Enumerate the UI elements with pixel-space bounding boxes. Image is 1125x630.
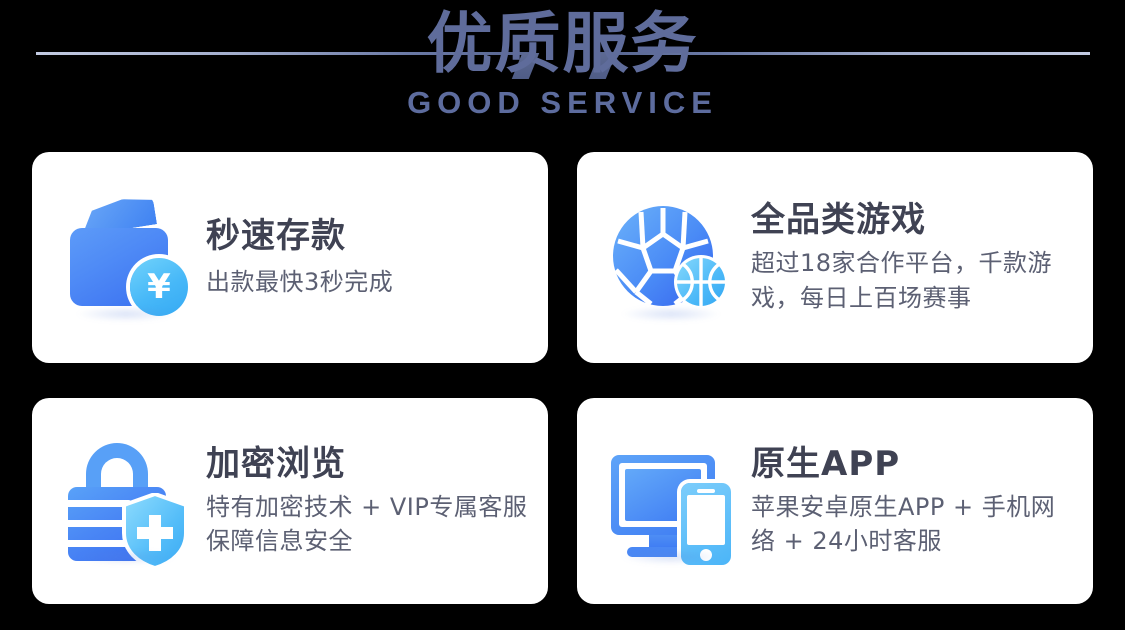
feature-card-grid: ¥ 秒速存款 出款最快3秒完成 [32, 152, 1093, 604]
card-text-block: 秒速存款 出款最快3秒完成 [206, 216, 530, 299]
card-description: 出款最快3秒完成 [206, 265, 530, 299]
icon-shadow [76, 306, 176, 322]
card-description: 超过18家合作平台，千款游戏，每日上百场赛事 [751, 246, 1075, 314]
page-subtitle: GOOD SERVICE [353, 85, 773, 121]
card-title: 全品类游戏 [751, 200, 1075, 240]
feature-card-instant-deposit[interactable]: ¥ 秒速存款 出款最快3秒完成 [32, 152, 548, 363]
icon-shadow [76, 549, 176, 565]
card-title: 加密浏览 [206, 444, 530, 484]
feature-card-all-games[interactable]: 全品类游戏 超过18家合作平台，千款游戏，每日上百场赛事 [577, 152, 1093, 363]
wallet-coin-icon: ¥ [60, 192, 192, 324]
title-block: 优质服务 GOOD SERVICE [353, 8, 773, 121]
card-description: 苹果安卓原生APP + 手机网络 + 24小时客服 [751, 490, 1075, 558]
card-text-block: 全品类游戏 超过18家合作平台，千款游戏，每日上百场赛事 [751, 200, 1075, 314]
page-title: 优质服务 [353, 8, 773, 79]
phone-speaker [697, 489, 715, 493]
monitor-phone-icon [605, 435, 737, 567]
card-description: 特有加密技术 + VIP专属客服保障信息安全 [206, 490, 530, 558]
card-text-block: 加密浏览 特有加密技术 + VIP专属客服保障信息安全 [206, 444, 530, 558]
soccer-basketball-icon [605, 192, 737, 324]
card-title: 原生APP [751, 444, 1075, 484]
service-feature-banner: 优质服务 GOOD SERVICE ¥ 秒速存款 出款最快3秒完成 [0, 0, 1125, 630]
basketball-icon [673, 254, 729, 310]
phone-screen [687, 495, 725, 545]
feature-card-encrypted-browsing[interactable]: 加密浏览 特有加密技术 + VIP专属客服保障信息安全 [32, 398, 548, 604]
icon-shadow [621, 306, 721, 322]
card-title: 秒速存款 [206, 216, 530, 256]
feature-card-native-app[interactable]: 原生APP 苹果安卓原生APP + 手机网络 + 24小时客服 [577, 398, 1093, 604]
icon-shadow [621, 549, 721, 565]
card-text-block: 原生APP 苹果安卓原生APP + 手机网络 + 24小时客服 [751, 444, 1075, 558]
banner-header: 优质服务 GOOD SERVICE [0, 0, 1125, 146]
lock-shield-icon [60, 435, 192, 567]
